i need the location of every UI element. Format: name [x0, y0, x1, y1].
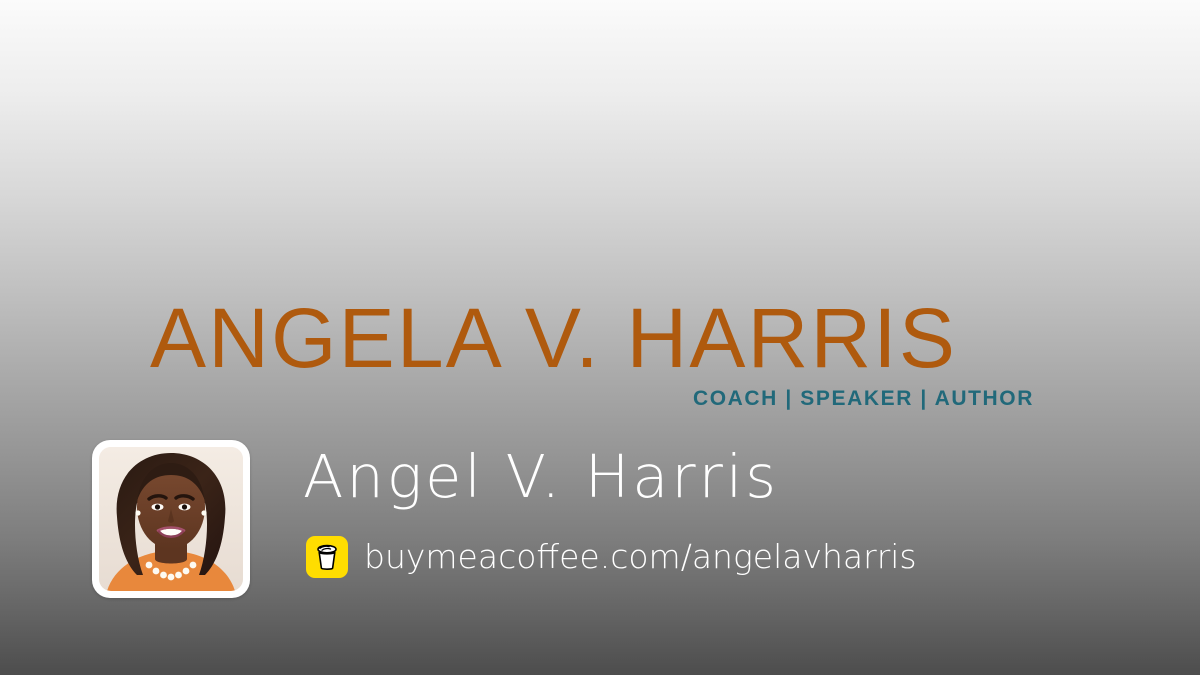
avatar-frame	[92, 440, 250, 598]
buy-me-a-coffee-link[interactable]: buymeacoffee.com/angelavharris	[306, 536, 917, 578]
promo-banner: ANGELA V. HARRIS COACH | SPEAKER | AUTHO…	[0, 0, 1200, 675]
avatar	[99, 447, 243, 591]
buy-me-a-coffee-cup-icon[interactable]	[306, 536, 348, 578]
brand-tagline: COACH | SPEAKER | AUTHOR	[150, 388, 1034, 410]
page-title: ANGELA V. HARRIS	[150, 296, 1034, 380]
buy-me-a-coffee-url[interactable]: buymeacoffee.com/angelavharris	[364, 537, 917, 577]
signature-text: Angel V. Harris	[303, 443, 779, 511]
brand-block: ANGELA V. HARRIS COACH | SPEAKER | AUTHO…	[150, 296, 1034, 410]
